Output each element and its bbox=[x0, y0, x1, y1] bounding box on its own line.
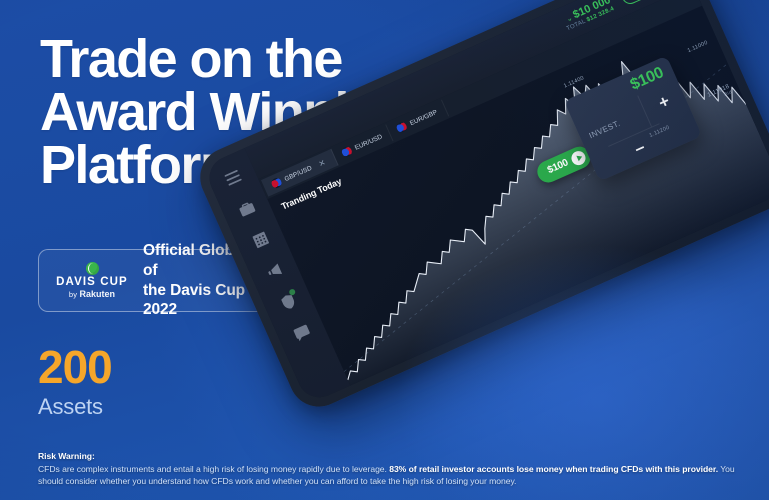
promo-banner: Trade on the Award Winning Platform DAVI… bbox=[0, 0, 769, 500]
briefcase-icon[interactable] bbox=[235, 198, 257, 220]
megaphone-icon[interactable] bbox=[263, 260, 285, 282]
risk-warning: Risk Warning: CFDs are complex instrumen… bbox=[38, 450, 750, 488]
assets-count: 200 bbox=[38, 344, 112, 390]
davis-cup-logo-sponsor: by Rakuten bbox=[49, 289, 135, 299]
assets-label: Assets bbox=[38, 394, 112, 420]
sponsor-prefix: by bbox=[69, 290, 77, 299]
grid-icon[interactable] bbox=[249, 229, 271, 251]
flag-eur-gbp-icon bbox=[395, 121, 408, 134]
chat-icon[interactable] bbox=[291, 322, 313, 344]
award-icon[interactable] bbox=[277, 291, 299, 313]
sponsor-brand: Rakuten bbox=[80, 289, 116, 299]
menu-icon[interactable] bbox=[221, 167, 243, 189]
davis-cup-logo: DAVIS CUP by Rakuten bbox=[49, 262, 135, 299]
trade-amount-value: $100 bbox=[546, 157, 570, 176]
risk-warning-title: Risk Warning: bbox=[38, 450, 750, 463]
flag-gbp-usd-icon bbox=[270, 176, 283, 189]
flag-eur-usd-icon bbox=[340, 145, 353, 158]
assets-stat: 200 Assets bbox=[38, 344, 112, 420]
risk-warning-part1: CFDs are complex instruments and entail … bbox=[38, 464, 389, 474]
play-icon[interactable] bbox=[569, 148, 587, 166]
close-icon[interactable]: ✕ bbox=[317, 157, 327, 168]
davis-cup-logo-name: DAVIS CUP bbox=[49, 276, 135, 288]
risk-warning-bold: 83% of retail investor accounts lose mon… bbox=[389, 464, 718, 474]
tennis-ball-icon bbox=[86, 262, 99, 275]
